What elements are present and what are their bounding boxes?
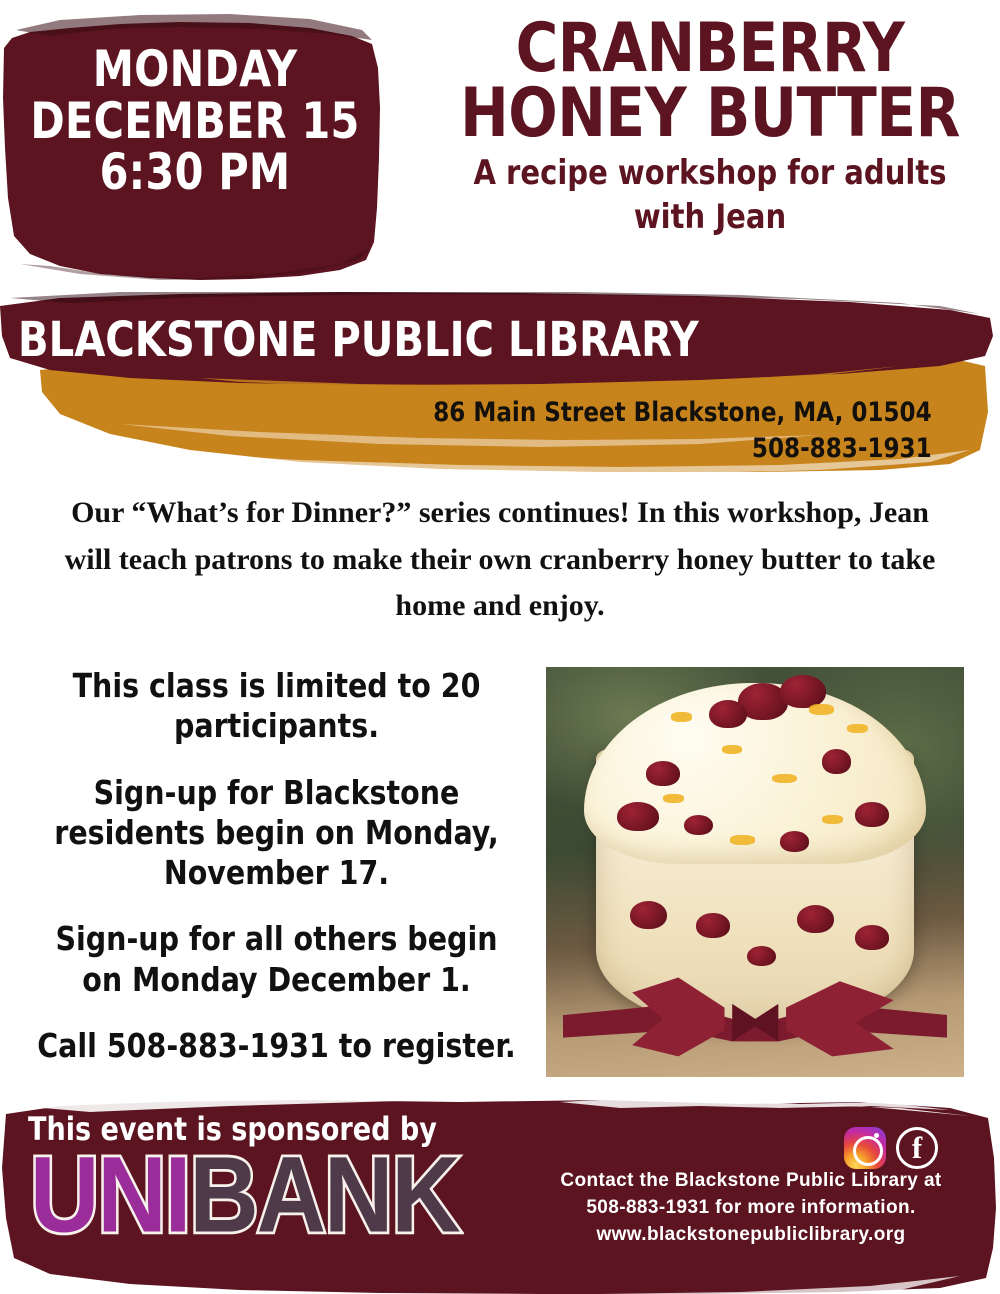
info-call-to-register: Call 508-883-1931 to register. (34, 1026, 519, 1066)
title-subtitle-line-1: A recipe workshop for adults (444, 155, 976, 192)
photo-cranberry (822, 749, 851, 774)
title-line-1: CRANBERRY (444, 16, 976, 81)
photo-cranberry (709, 700, 747, 729)
facebook-glyph: f (899, 1127, 935, 1168)
event-description: Our “What’s for Dinner?” series continue… (60, 490, 940, 630)
photo-cranberry (797, 905, 835, 934)
title-subtitle-line-2: with Jean (444, 199, 976, 236)
info-class-limit: This class is limited to 20 participants… (34, 666, 519, 747)
date-text: MONDAY DECEMBER 15 6:30 PM (16, 44, 375, 199)
photo-orange-zest (671, 712, 692, 722)
photo-cranberry (696, 913, 729, 938)
photo-orange-zest (822, 815, 843, 824)
instagram-icon[interactable] (844, 1127, 886, 1169)
photo-cranberry (617, 802, 659, 831)
photo-cranberry (630, 901, 668, 930)
photo-orange-zest (809, 704, 834, 715)
photo-cranberry (780, 831, 809, 852)
date-line-date: DECEMBER 15 (16, 96, 375, 148)
info-resident-signup: Sign-up for Blackstone residents begin o… (34, 773, 519, 894)
address-block: 86 Main Street Blackstone, MA, 01504 508… (434, 395, 932, 468)
photo-ribbon (563, 970, 948, 1060)
photo-cranberry (747, 946, 776, 967)
photo-orange-zest (772, 774, 797, 784)
library-address: 86 Main Street Blackstone, MA, 01504 (434, 395, 932, 431)
unibank-uni-text: UNI (30, 1135, 189, 1255)
date-line-day: MONDAY (16, 44, 375, 96)
title-line-2: HONEY BUTTER (444, 81, 976, 146)
contact-block: Contact the Blackstone Public Library at… (536, 1168, 966, 1249)
contact-line-1: Contact the Blackstone Public Library at (536, 1168, 966, 1195)
library-name: BLACKSTONE PUBLIC LIBRARY (18, 312, 699, 368)
contact-line-2: 508-883-1931 for more information. (536, 1195, 966, 1222)
library-banner: BLACKSTONE PUBLIC LIBRARY 86 Main Street… (0, 292, 1000, 477)
date-brush-block: MONDAY DECEMBER 15 6:30 PM (0, 8, 390, 286)
photo-orange-zest (847, 724, 868, 733)
photo-cranberry (855, 802, 888, 827)
photo-cranberry (855, 925, 888, 950)
social-icons: f (844, 1127, 938, 1169)
info-general-signup: Sign-up for all others begin on Monday D… (34, 919, 519, 1000)
unibank-logo: UNIBANK (30, 1142, 459, 1250)
title-block: CRANBERRY HONEY BUTTER A recipe workshop… (430, 16, 990, 236)
facebook-icon[interactable]: f (896, 1127, 938, 1169)
date-line-time: 6:30 PM (16, 147, 375, 199)
registration-info: This class is limited to 20 participants… (24, 666, 529, 1066)
photo-orange-zest (730, 835, 755, 844)
library-phone: 508-883-1931 (434, 431, 932, 467)
photo-cranberry (684, 815, 713, 836)
photo-orange-zest (722, 745, 743, 754)
unibank-bank-text: BANK (189, 1135, 458, 1255)
cranberry-honey-butter-photo (546, 667, 964, 1077)
contact-website[interactable]: www.blackstonepubliclibrary.org (536, 1222, 966, 1249)
photo-orange-zest (663, 794, 684, 803)
photo-cranberry (646, 761, 679, 786)
